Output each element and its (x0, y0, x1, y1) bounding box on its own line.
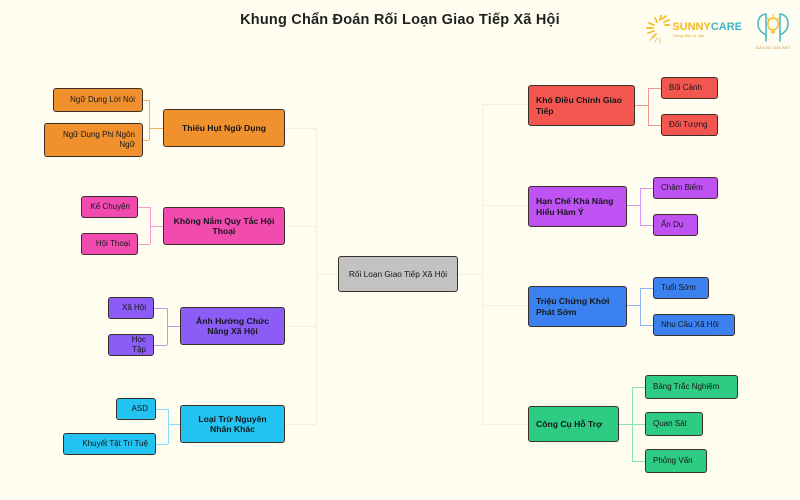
conn-b4-trunk (168, 409, 169, 444)
leaf-node-ngu-dung-phi-ngon-ngu[interactable]: Ngữ Dụng Phi Ngôn Ngữ (44, 123, 143, 157)
sunnycare-word-1: SUNNY (672, 21, 711, 33)
conn-b8-c1 (632, 387, 645, 388)
branch-node-anh-huong-chuc-nang-xa-hoi[interactable]: Ảnh Hưởng Chức Năng Xã Hội (180, 307, 285, 345)
sunnycare-word-2: CARE (711, 21, 742, 33)
conn-b1-c1 (143, 100, 149, 101)
leaf-node-ngu-dung-loi-noi[interactable]: Ngữ Dụng Lời Nói (53, 88, 143, 112)
conn-b7-c2 (640, 325, 653, 326)
conn-b6-c2 (640, 225, 653, 226)
head-lightbulb-icon (754, 11, 792, 45)
spine-left-to-b4 (285, 424, 316, 425)
conn-b3-c2 (154, 345, 167, 346)
branch-node-cong-cu-ho-tro[interactable]: Công Cụ Hỗ Trợ (528, 406, 619, 442)
sunnycare-logo: SUNNYCARE Trung tâm trị liệu (644, 15, 742, 45)
leaf-node-doi-tuong[interactable]: Đối Tượng (661, 114, 718, 136)
branch-node-han-che-kha-nang-hieu-ham-y[interactable]: Hạn Chế Khả Năng Hiểu Hàm Ý (528, 186, 627, 227)
sun-icon (644, 15, 670, 45)
conn-b1-c2 (143, 140, 149, 141)
conn-b7-main (627, 305, 640, 306)
leaf-node-tuoi-som[interactable]: Tuổi Sớm (653, 277, 709, 299)
leaf-node-cham-biem[interactable]: Châm Biếm (653, 177, 718, 199)
conn-b2-c1 (138, 207, 150, 208)
spine-right-to-b3 (482, 305, 528, 306)
spine-left-to-b1 (285, 128, 316, 129)
conn-b5-main (635, 105, 648, 106)
conn-b6-trunk (640, 188, 641, 225)
conn-b5-trunk (648, 88, 649, 125)
spine-left-stub (316, 274, 338, 275)
conn-b8-c3 (632, 461, 645, 462)
conn-b4-main (168, 424, 180, 425)
leaf-node-boi-canh[interactable]: Bối Cảnh (661, 77, 718, 99)
leaf-node-nhu-cau-xa-hoi[interactable]: Nhu Cầu Xã Hội (653, 314, 735, 336)
conn-b3-trunk (167, 308, 168, 345)
spine-right-trunk (482, 104, 483, 424)
conn-b6-main (627, 205, 640, 206)
conn-b1-main (149, 128, 163, 129)
spine-right-to-b2 (482, 205, 528, 206)
conn-b7-c1 (640, 288, 653, 289)
branch-node-khong-nam-quy-tac-hoi-thoai[interactable]: Không Nắm Quy Tắc Hội Thoại (163, 207, 285, 245)
leaf-node-hoc-tap[interactable]: Học Tập (108, 334, 154, 356)
conn-b2-main (150, 226, 163, 227)
leaf-node-asd[interactable]: ASD (116, 398, 156, 420)
conn-b3-main (167, 326, 180, 327)
leaf-node-bang-trac-nghiem[interactable]: Bảng Trắc Nghiệm (645, 375, 738, 399)
conn-b8-c2 (632, 424, 645, 425)
conn-b2-trunk (150, 207, 151, 244)
leaf-node-ke-chuyen[interactable]: Kể Chuyện (81, 196, 138, 218)
sunnycare-wordmark: SUNNYCARE (672, 22, 742, 33)
spine-left-trunk (316, 128, 317, 424)
branch-node-kho-dieu-chinh-giao-tiep[interactable]: Khó Điều Chỉnh Giao Tiếp (528, 85, 635, 126)
leaf-node-quan-sat[interactable]: Quan Sát (645, 412, 703, 436)
conn-b7-trunk (640, 288, 641, 325)
spine-left-to-b3 (285, 326, 316, 327)
spine-right-stub (458, 274, 482, 275)
branch-node-loai-tru-nguyen-nhan-khac[interactable]: Loại Trừ Nguyên Nhân Khác (180, 405, 285, 443)
leaf-node-phong-van[interactable]: Phỏng Vấn (645, 449, 707, 473)
leaf-node-khuyet-tat-tri-tue[interactable]: Khuyết Tật Trí Tuệ (63, 433, 156, 455)
conn-b5-c2 (648, 125, 661, 126)
conn-b4-c2 (156, 444, 168, 445)
leaf-node-xa-hoi[interactable]: Xã Hội (108, 297, 154, 319)
conn-b6-c1 (640, 188, 653, 189)
center-node[interactable]: Rối Loạn Giao Tiếp Xã Hội (338, 256, 458, 292)
spine-right-to-b4 (482, 424, 528, 425)
conn-b5-c1 (648, 88, 661, 89)
diagram-canvas: Khung Chẩn Đoán Rối Loạn Giao Tiếp Xã Hộ… (0, 0, 800, 500)
leaf-node-an-du[interactable]: Ẩn Dụ (653, 214, 698, 236)
sunnycare-tagline: Trung tâm trị liệu (672, 34, 742, 38)
branch-node-thieu-hut-ngu-dung[interactable]: Thiếu Hụt Ngữ Dụng (163, 109, 285, 147)
conn-b4-c1 (156, 409, 168, 410)
spine-left-to-b2 (285, 226, 316, 227)
head-logo-tagline: GIÁO DỤC ĐẶC BIỆT (754, 46, 792, 50)
logo-area: SUNNYCARE Trung tâm trị liệu GIÁO DỤC ĐẶ… (642, 8, 792, 52)
conn-b2-c2 (138, 244, 150, 245)
branch-node-trieu-chung-khoi-phat-som[interactable]: Triệu Chứng Khởi Phát Sớm (528, 286, 627, 327)
spine-right-to-b1 (482, 104, 528, 105)
leaf-node-hoi-thoai[interactable]: Hội Thoại (81, 233, 138, 255)
conn-b1-trunk (149, 100, 150, 140)
conn-b8-main (619, 424, 632, 425)
conn-b3-c1 (154, 308, 167, 309)
head-lightbulb-logo: GIÁO DỤC ĐẶC BIỆT (754, 11, 792, 49)
